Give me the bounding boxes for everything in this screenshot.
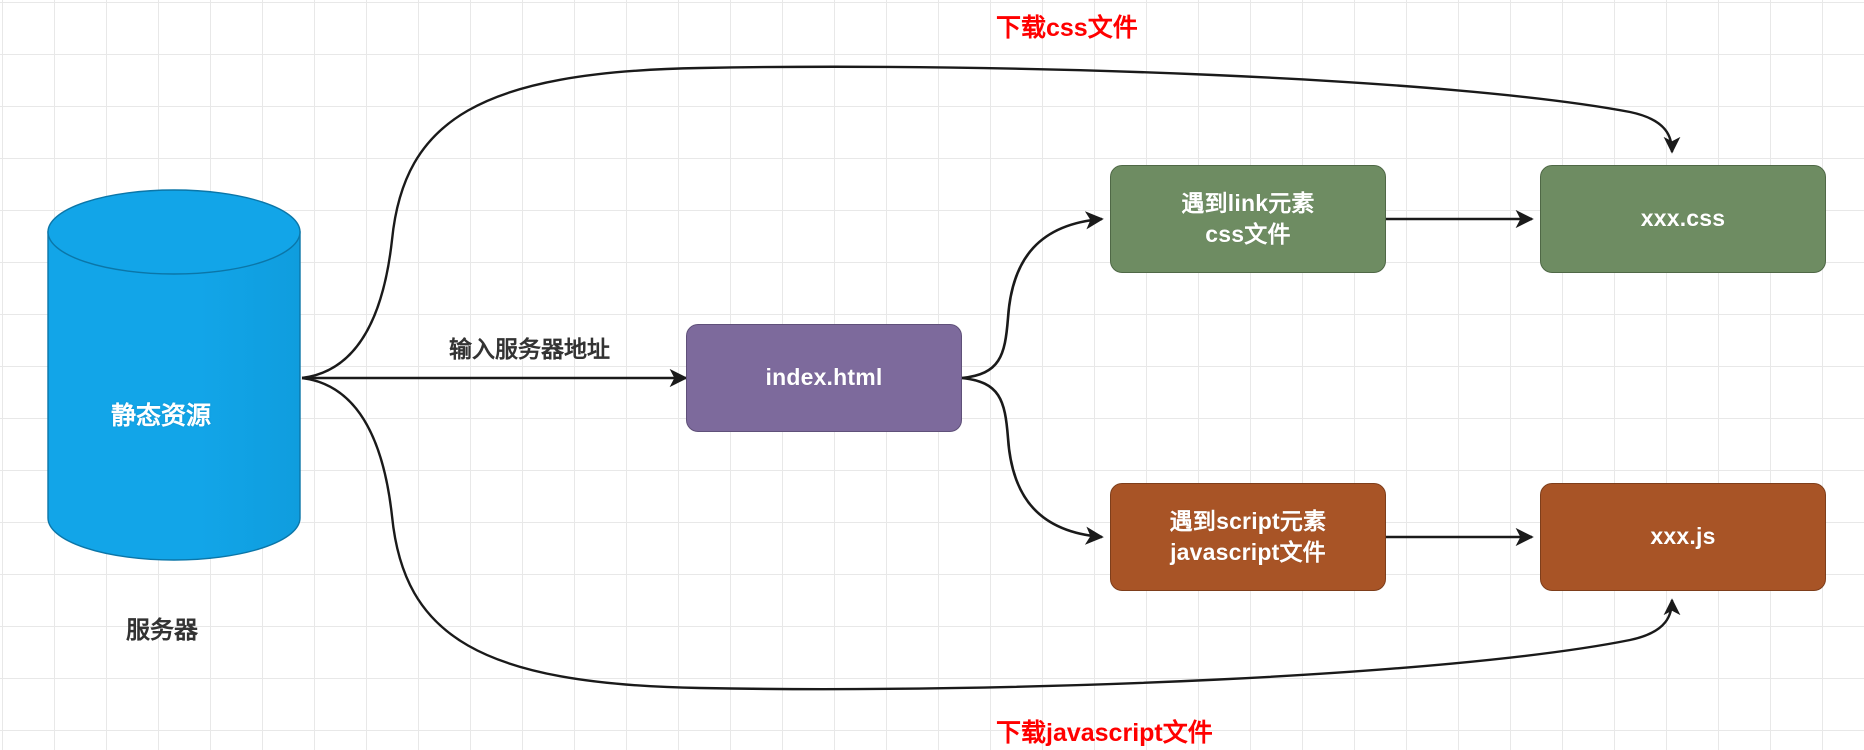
edge-index-to-script-element [962,378,1102,537]
label-download-css: 下载css文件 [996,8,1138,44]
node-js-file-label: xxx.js [1650,521,1715,552]
node-css-element-line1: 遇到link元素 [1181,190,1314,216]
node-script-element-line2: javascript文件 [1170,539,1326,565]
diagram-canvas: 静态资源 服务器 输入服务器地址 index.html 遇到link元素 css… [0,0,1864,750]
node-index-html-label: index.html [765,362,882,393]
node-js-file[interactable]: xxx.js [1540,483,1826,591]
server-cylinder-shape [48,190,300,560]
edge-index-to-css-element [962,219,1102,378]
node-css-element[interactable]: 遇到link元素 css文件 [1110,165,1386,273]
edge-server-to-js-file [302,378,1672,689]
server-caption: 服务器 [126,610,198,645]
node-script-element-text: 遇到script元素 javascript文件 [1170,506,1327,568]
node-script-element[interactable]: 遇到script元素 javascript文件 [1110,483,1386,591]
server-cylinder-label: 静态资源 [111,396,211,432]
node-index-html[interactable]: index.html [686,324,962,432]
label-download-javascript: 下载javascript文件 [996,713,1213,749]
edge-label-input-server-address: 输入服务器地址 [449,330,610,364]
node-css-element-text: 遇到link元素 css文件 [1181,188,1314,250]
node-css-file[interactable]: xxx.css [1540,165,1826,273]
node-css-file-label: xxx.css [1641,203,1726,234]
node-script-element-line1: 遇到script元素 [1170,508,1327,534]
node-css-element-line2: css文件 [1205,221,1290,247]
